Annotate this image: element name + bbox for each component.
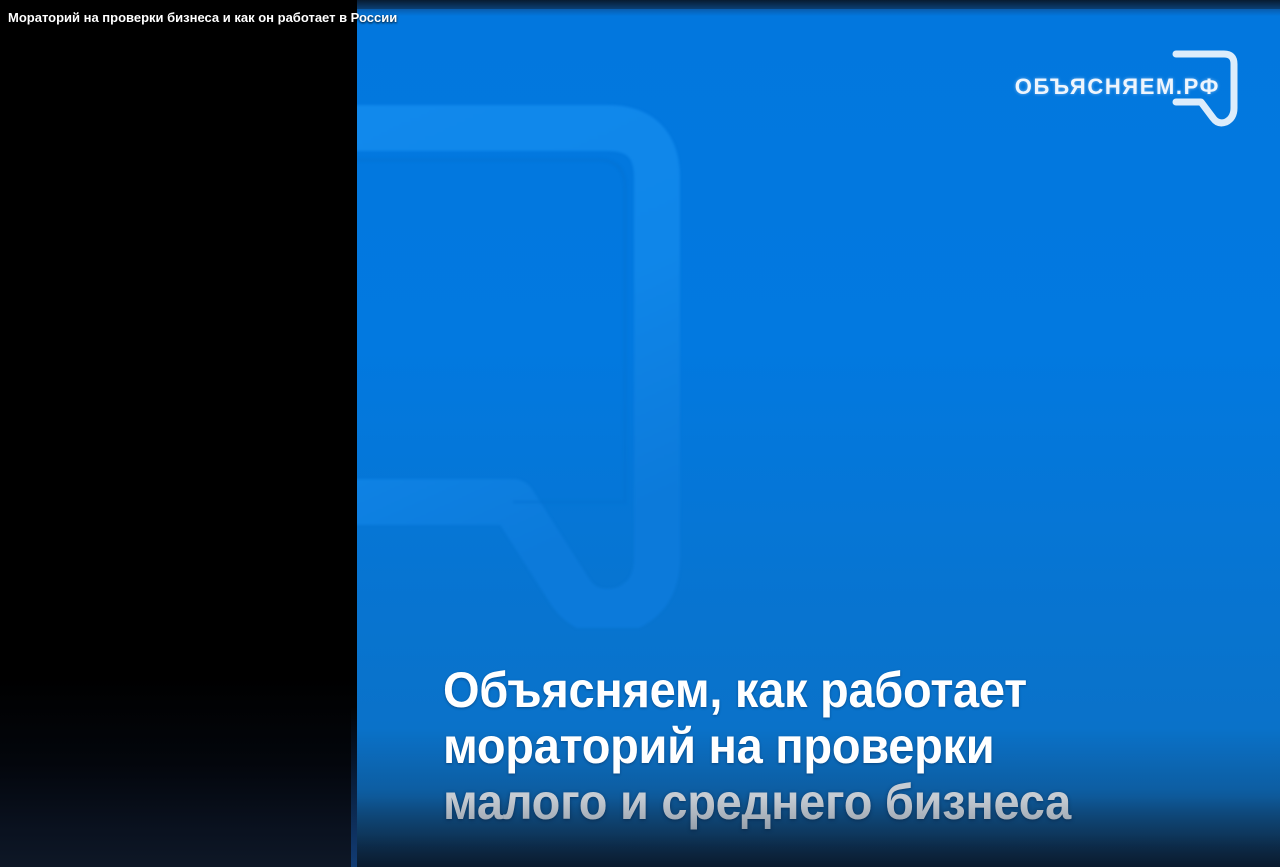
headline-line-2: мораторий на проверки bbox=[443, 718, 1176, 774]
headline-line-1: Объясняем, как работает bbox=[443, 662, 1176, 718]
video-frame: ОБЪЯСНЯЕМ.РФ Объясняем, как работает мор… bbox=[0, 0, 1280, 867]
video-player-surface[interactable]: ОБЪЯСНЯЕМ.РФ Объясняем, как работает мор… bbox=[357, 0, 1280, 867]
letterbox-left-panel bbox=[0, 0, 357, 867]
poster-headline: Объясняем, как работает мораторий на про… bbox=[443, 662, 1223, 830]
brand-logo-text: ОБЪЯСНЯЕМ.РФ bbox=[1015, 74, 1220, 100]
headline-line-3: малого и среднего бизнеса bbox=[443, 774, 1176, 830]
video-title-overlay: Мораторий на проверки бизнеса и как он р… bbox=[0, 0, 1280, 34]
brand-logo: ОБЪЯСНЯЕМ.РФ bbox=[1015, 40, 1242, 132]
speech-bubble-watermark-icon bbox=[357, 98, 717, 628]
video-title-text: Мораторий на проверки бизнеса и как он р… bbox=[8, 10, 397, 25]
